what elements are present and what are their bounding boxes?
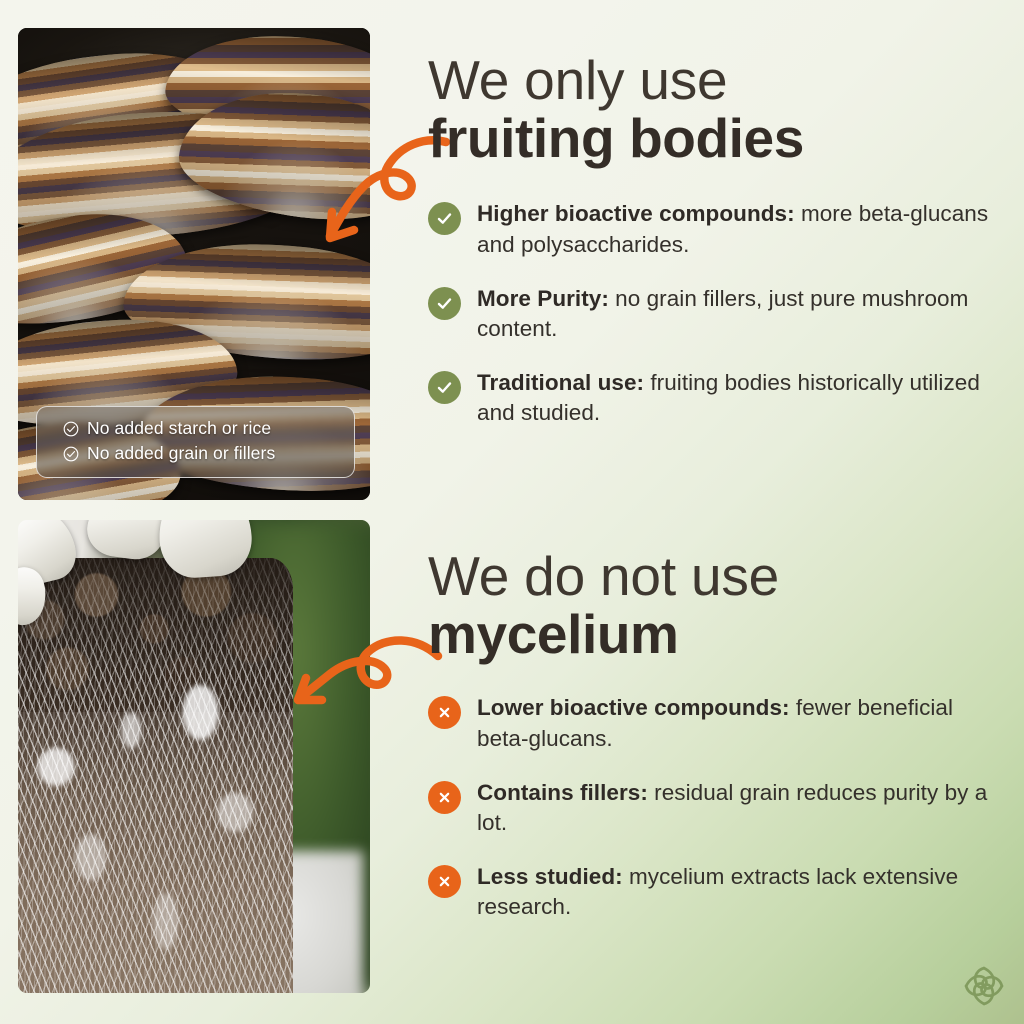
bullet-item: More Purity: no grain fillers, just pure… [428,284,1004,344]
fruiting-bodies-heading: We only use fruiting bodies [428,52,1004,167]
heading-line-2: fruiting bodies [428,109,1004,167]
heading-line-2: mycelium [428,605,1004,663]
cross-badge-icon [428,781,461,814]
caption-row-grain: No added grain or fillers [37,441,354,466]
bullet-lead: Contains fillers: [477,780,648,805]
bullet-text: Lower bioactive compounds: fewer benefic… [477,693,1004,753]
bullet-text: Less studied: mycelium extracts lack ext… [477,862,1004,922]
close-icon [436,873,453,890]
bullet-item: Higher bioactive compounds: more beta-gl… [428,199,1004,259]
check-icon [435,294,454,313]
substrate-block [18,558,293,993]
cross-badge-icon [428,696,461,729]
bullet-item: Traditional use: fruiting bodies histori… [428,368,1004,428]
circle-check-icon [63,421,79,437]
check-badge-icon [428,202,461,235]
close-icon [436,704,453,721]
close-icon [436,789,453,806]
mycelium-photo [18,520,370,993]
fruiting-bodies-bullet-list: Higher bioactive compounds: more beta-gl… [428,199,1004,428]
bullet-item: Contains fillers: residual grain reduces… [428,778,1004,838]
bullet-lead: Lower bioactive compounds: [477,695,790,720]
no-fillers-caption-overlay: No added starch or rice No added grain o… [36,406,355,478]
bullet-text: More Purity: no grain fillers, just pure… [477,284,1004,344]
bullet-text: Higher bioactive compounds: more beta-gl… [477,199,1004,259]
mycelium-bullet-list: Lower bioactive compounds: fewer benefic… [428,693,1004,922]
heading-line-1: We only use [428,52,1004,109]
check-badge-icon [428,287,461,320]
bullet-item: Lower bioactive compounds: fewer benefic… [428,693,1004,753]
hyphae-clumps [18,558,293,993]
infographic-canvas: No added starch or rice No added grain o… [0,0,1024,1024]
caption-text: No added grain or fillers [87,443,275,464]
mycelium-section: We do not use mycelium Lower bioactive c… [428,548,1004,922]
bullet-lead: Less studied: [477,864,623,889]
bullet-lead: Higher bioactive compounds: [477,201,795,226]
caption-text: No added starch or rice [87,418,271,439]
circle-check-icon [63,446,79,462]
mycelium-illustration [18,520,370,993]
fruiting-bodies-photo: No added starch or rice No added grain o… [18,28,370,500]
bullet-text: Contains fillers: residual grain reduces… [477,778,1004,838]
caption-row-starch: No added starch or rice [37,416,354,441]
check-badge-icon [428,371,461,404]
brand-knot-logo [958,960,1010,1012]
bullet-item: Less studied: mycelium extracts lack ext… [428,862,1004,922]
mycelium-heading: We do not use mycelium [428,548,1004,663]
heading-line-1: We do not use [428,548,1004,605]
check-icon [435,378,454,397]
check-icon [435,209,454,228]
bullet-lead: Traditional use: [477,370,644,395]
fruiting-bodies-section: We only use fruiting bodies Higher bioac… [428,52,1004,428]
bullet-lead: More Purity: [477,286,609,311]
bullet-text: Traditional use: fruiting bodies histori… [477,368,1004,428]
cross-badge-icon [428,865,461,898]
